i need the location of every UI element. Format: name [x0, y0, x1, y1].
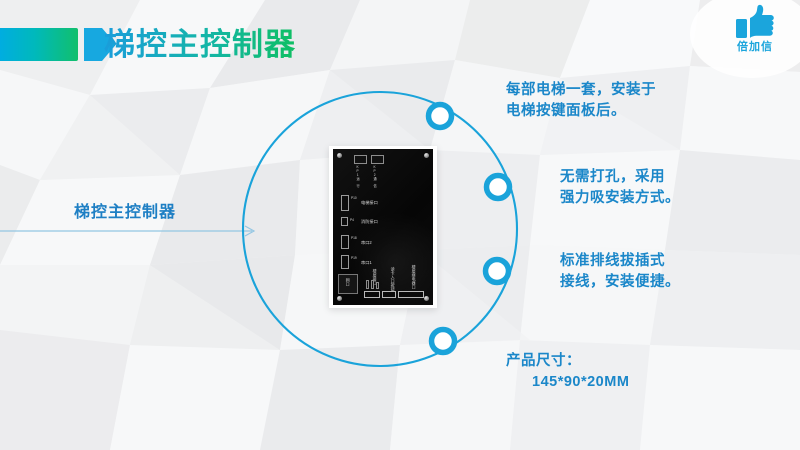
- board-header-kp2: [371, 155, 384, 164]
- header-accent-bar: [0, 28, 78, 61]
- board-silk-comm: 通 信: [372, 177, 376, 187]
- dimensions-label: 产品尺寸：: [506, 353, 581, 369]
- brand-name: 倍加信: [722, 41, 788, 53]
- board-connector-serial1: [341, 255, 349, 269]
- board-pin-cluster-1: [366, 280, 369, 289]
- board-silk-ethernet: 网口: [346, 278, 350, 286]
- dimensions-value: 145*90*20MM: [506, 372, 629, 393]
- device-board: KP1 KP2 运 行 通 信 P10 电梯接口 P4 消防接口 P18 串口2…: [333, 149, 433, 305]
- board-connector-serial2: [341, 235, 349, 249]
- circle-node-3: [486, 260, 509, 283]
- board-pin-cluster-3: [376, 282, 379, 289]
- board-silk-serial1: 串口1: [361, 261, 372, 265]
- circle-node-1: [429, 105, 452, 128]
- board-screw-tl: [337, 153, 342, 158]
- board-silk-fire-port: 消防接口: [361, 220, 378, 224]
- board-silk-p18: P18: [351, 237, 357, 241]
- thumbs-up-icon: [735, 4, 775, 40]
- board-silk-p10: P10: [351, 197, 357, 201]
- board-silk-p4: P4: [350, 219, 354, 223]
- circle-node-4: [432, 330, 455, 353]
- board-connector-elevator: [341, 195, 349, 211]
- board-header-kp1: [354, 155, 367, 164]
- circle-node-2: [487, 176, 510, 199]
- feature-text-wiring: 标准排线拔插式 接线，安装便捷。: [560, 251, 680, 293]
- board-pin-cluster-2: [371, 280, 374, 289]
- board-edge-connector-1: [364, 291, 380, 298]
- device-callout-label: 梯控主控制器: [74, 198, 176, 222]
- slide-root: 梯控主控制器 倍加信 梯控主控制器: [0, 0, 800, 450]
- board-silk-run: 运 行: [355, 177, 359, 187]
- page-title: 梯控主控制器: [104, 26, 296, 64]
- board-silk-elevator-port: 电梯接口: [361, 201, 378, 205]
- board-silk-relay-port: 楼层继电器口: [412, 265, 416, 289]
- board-screw-br: [424, 296, 429, 301]
- dimensions-block: 产品尺寸： 145*90*20MM: [506, 330, 629, 414]
- board-screw-bl: [337, 296, 342, 301]
- board-edge-connector-3: [398, 291, 424, 298]
- board-connector-fire: [341, 217, 348, 226]
- feature-text-install: 每部电梯一套，安装于 电梯按键面板后。: [506, 80, 656, 122]
- board-edge-connector-2: [382, 291, 396, 298]
- board-silk-p19: P19: [351, 257, 357, 261]
- feature-text-mount: 无需打孔，采用 强力吸安装方式。: [560, 167, 680, 209]
- board-silk-kp1: KP1: [355, 165, 359, 177]
- board-silk-kp2: KP2: [372, 165, 376, 177]
- board-screw-tr: [424, 153, 429, 158]
- board-silk-card-button: 读卡入口按钮: [391, 267, 395, 291]
- board-silk-serial2: 串口2: [361, 241, 372, 245]
- brand-logo: 倍加信: [722, 4, 788, 54]
- callout-arrow-icon: [0, 222, 262, 240]
